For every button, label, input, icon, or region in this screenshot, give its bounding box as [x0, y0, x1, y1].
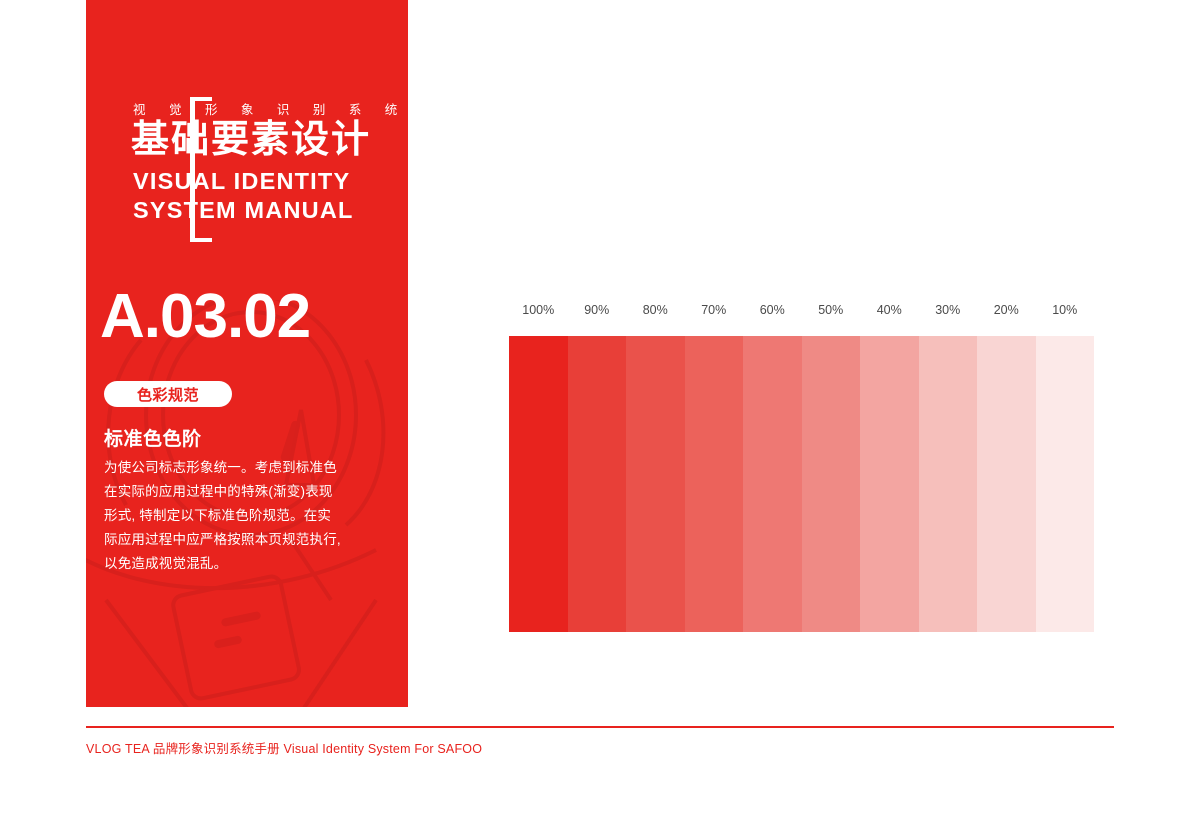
- swatch-label: 80%: [626, 303, 685, 317]
- color-swatch: [860, 336, 919, 632]
- swatch-percentage-labels: 100%90%80%70%60%50%40%30%20%10%: [509, 303, 1094, 317]
- swatch-label: 20%: [977, 303, 1036, 317]
- color-swatch: [977, 336, 1036, 632]
- swatch-label: 100%: [509, 303, 568, 317]
- swatch-label: 40%: [860, 303, 919, 317]
- bracket-decoration-icon: [190, 97, 212, 242]
- color-swatch: [685, 336, 744, 632]
- swatch-label: 90%: [568, 303, 627, 317]
- color-swatch: [568, 336, 627, 632]
- swatch-label: 60%: [743, 303, 802, 317]
- swatch-label: 30%: [919, 303, 978, 317]
- color-swatch: [1036, 336, 1095, 632]
- footer-text: VLOG TEA 品牌形象识别系统手册 Visual Identity Syst…: [86, 738, 482, 757]
- swatch-label: 10%: [1036, 303, 1095, 317]
- color-swatch: [743, 336, 802, 632]
- color-swatch: [802, 336, 861, 632]
- footer-divider: [86, 726, 1114, 728]
- color-tint-scale: [509, 336, 1094, 632]
- swatch-label: 50%: [802, 303, 861, 317]
- swatch-label: 70%: [685, 303, 744, 317]
- color-swatch: [919, 336, 978, 632]
- color-swatch: [626, 336, 685, 632]
- cover-panel: [86, 0, 408, 707]
- color-swatch: [509, 336, 568, 632]
